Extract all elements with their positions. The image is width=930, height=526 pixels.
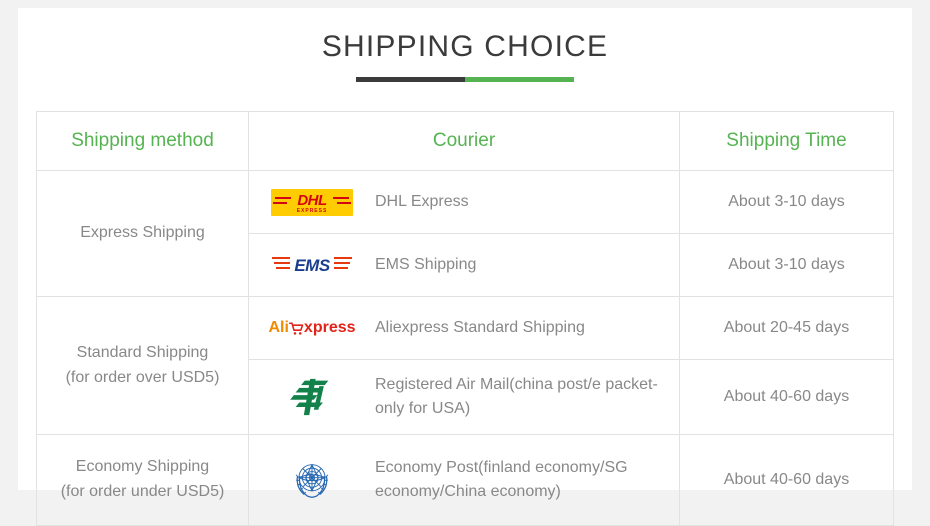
logo-box: Ali xpress bbox=[249, 320, 375, 336]
shipping-info-card: SHIPPING CHOICE Shipping method Courier … bbox=[18, 8, 912, 490]
courier-cell-dhl: DHL EXPRESS DHL Express bbox=[249, 171, 680, 234]
dhl-logo-subtext: EXPRESS bbox=[271, 208, 353, 214]
method-label-line1: Standard Shipping bbox=[37, 341, 248, 366]
china-post-logo bbox=[289, 377, 335, 417]
shipping-time-cell: About 40-60 days bbox=[680, 360, 894, 435]
courier-label: Registered Air Mail(china post/e packet-… bbox=[375, 373, 679, 421]
shipping-time-cell: About 40-60 days bbox=[680, 435, 894, 526]
courier-cell-united-nations: Economy Post(finland economy/SG economy/… bbox=[249, 435, 680, 526]
courier-label: Economy Post(finland economy/SG economy/… bbox=[375, 456, 679, 504]
shopping-cart-icon bbox=[289, 321, 304, 336]
table-header-row: Shipping method Courier Shipping Time bbox=[37, 112, 894, 171]
method-cell-standard: Standard Shipping (for order over USD5) bbox=[37, 297, 249, 435]
method-label-line1: Express Shipping bbox=[37, 221, 248, 246]
title-underline-green bbox=[465, 77, 574, 82]
courier-cell-ems: EMS EMS Shipping bbox=[249, 234, 680, 297]
logo-box: DHL EXPRESS bbox=[249, 189, 375, 216]
table-row: Express Shipping DHL EXPRESS DHL Expr bbox=[37, 171, 894, 234]
courier-label: Aliexpress Standard Shipping bbox=[375, 316, 595, 340]
method-label-line2: (for order under USD5) bbox=[37, 480, 248, 505]
shipping-time-cell: About 3-10 days bbox=[680, 171, 894, 234]
courier-label: EMS Shipping bbox=[375, 253, 486, 277]
aliexpress-logo-part2: xpress bbox=[304, 320, 356, 336]
courier-label: DHL Express bbox=[375, 190, 479, 214]
aliexpress-logo-part1: Ali bbox=[268, 320, 288, 336]
shipping-choice-table: Shipping method Courier Shipping Time Ex… bbox=[36, 111, 894, 526]
ems-logo-word: EMS bbox=[294, 257, 329, 274]
table-row: Economy Shipping (for order under USD5) bbox=[37, 435, 894, 526]
column-header-shipping-time: Shipping Time bbox=[680, 112, 894, 171]
title-underline-dark bbox=[356, 77, 465, 82]
logo-box: EMS bbox=[249, 252, 375, 278]
column-header-courier: Courier bbox=[249, 112, 680, 171]
method-label-line2: (for order over USD5) bbox=[37, 366, 248, 391]
column-header-shipping-method: Shipping method bbox=[37, 112, 249, 171]
united-nations-logo bbox=[289, 457, 335, 503]
courier-cell-china-post: Registered Air Mail(china post/e packet-… bbox=[249, 360, 680, 435]
shipping-time-cell: About 20-45 days bbox=[680, 297, 894, 360]
aliexpress-logo: Ali xpress bbox=[268, 320, 355, 336]
logo-box bbox=[249, 377, 375, 417]
ems-logo: EMS bbox=[272, 252, 352, 278]
method-cell-express: Express Shipping bbox=[37, 171, 249, 297]
method-cell-economy: Economy Shipping (for order under USD5) bbox=[37, 435, 249, 526]
logo-box bbox=[249, 457, 375, 503]
title-underline bbox=[356, 77, 574, 82]
method-label-line1: Economy Shipping bbox=[37, 455, 248, 480]
title-block: SHIPPING CHOICE bbox=[18, 8, 912, 82]
page-title: SHIPPING CHOICE bbox=[18, 30, 912, 63]
table-row: Standard Shipping (for order over USD5) … bbox=[37, 297, 894, 360]
shipping-time-cell: About 3-10 days bbox=[680, 234, 894, 297]
dhl-logo: DHL EXPRESS bbox=[271, 189, 353, 216]
courier-cell-aliexpress: Ali xpress Aliexpress Standard Shipping bbox=[249, 297, 680, 360]
dhl-logo-word: DHL bbox=[297, 193, 326, 208]
